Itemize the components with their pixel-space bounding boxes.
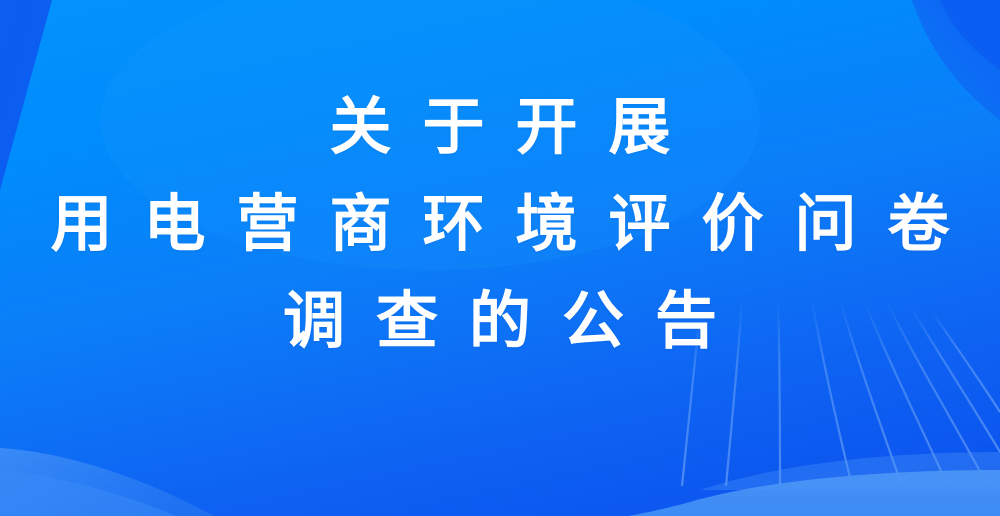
title-line-3: 调查的公告 [0,272,1000,369]
shape-bottom-left-wave [0,448,214,516]
banner-title: 关于开展 用电营商环境评价问卷 调查的公告 [0,78,1000,369]
announcement-banner: 关于开展 用电营商环境评价问卷 调查的公告 [0,0,1000,516]
title-line-2: 用电营商环境评价问卷 [0,175,1000,272]
shape-bottom-right-arc [628,452,1000,516]
title-line-1: 关于开展 [0,78,1000,175]
